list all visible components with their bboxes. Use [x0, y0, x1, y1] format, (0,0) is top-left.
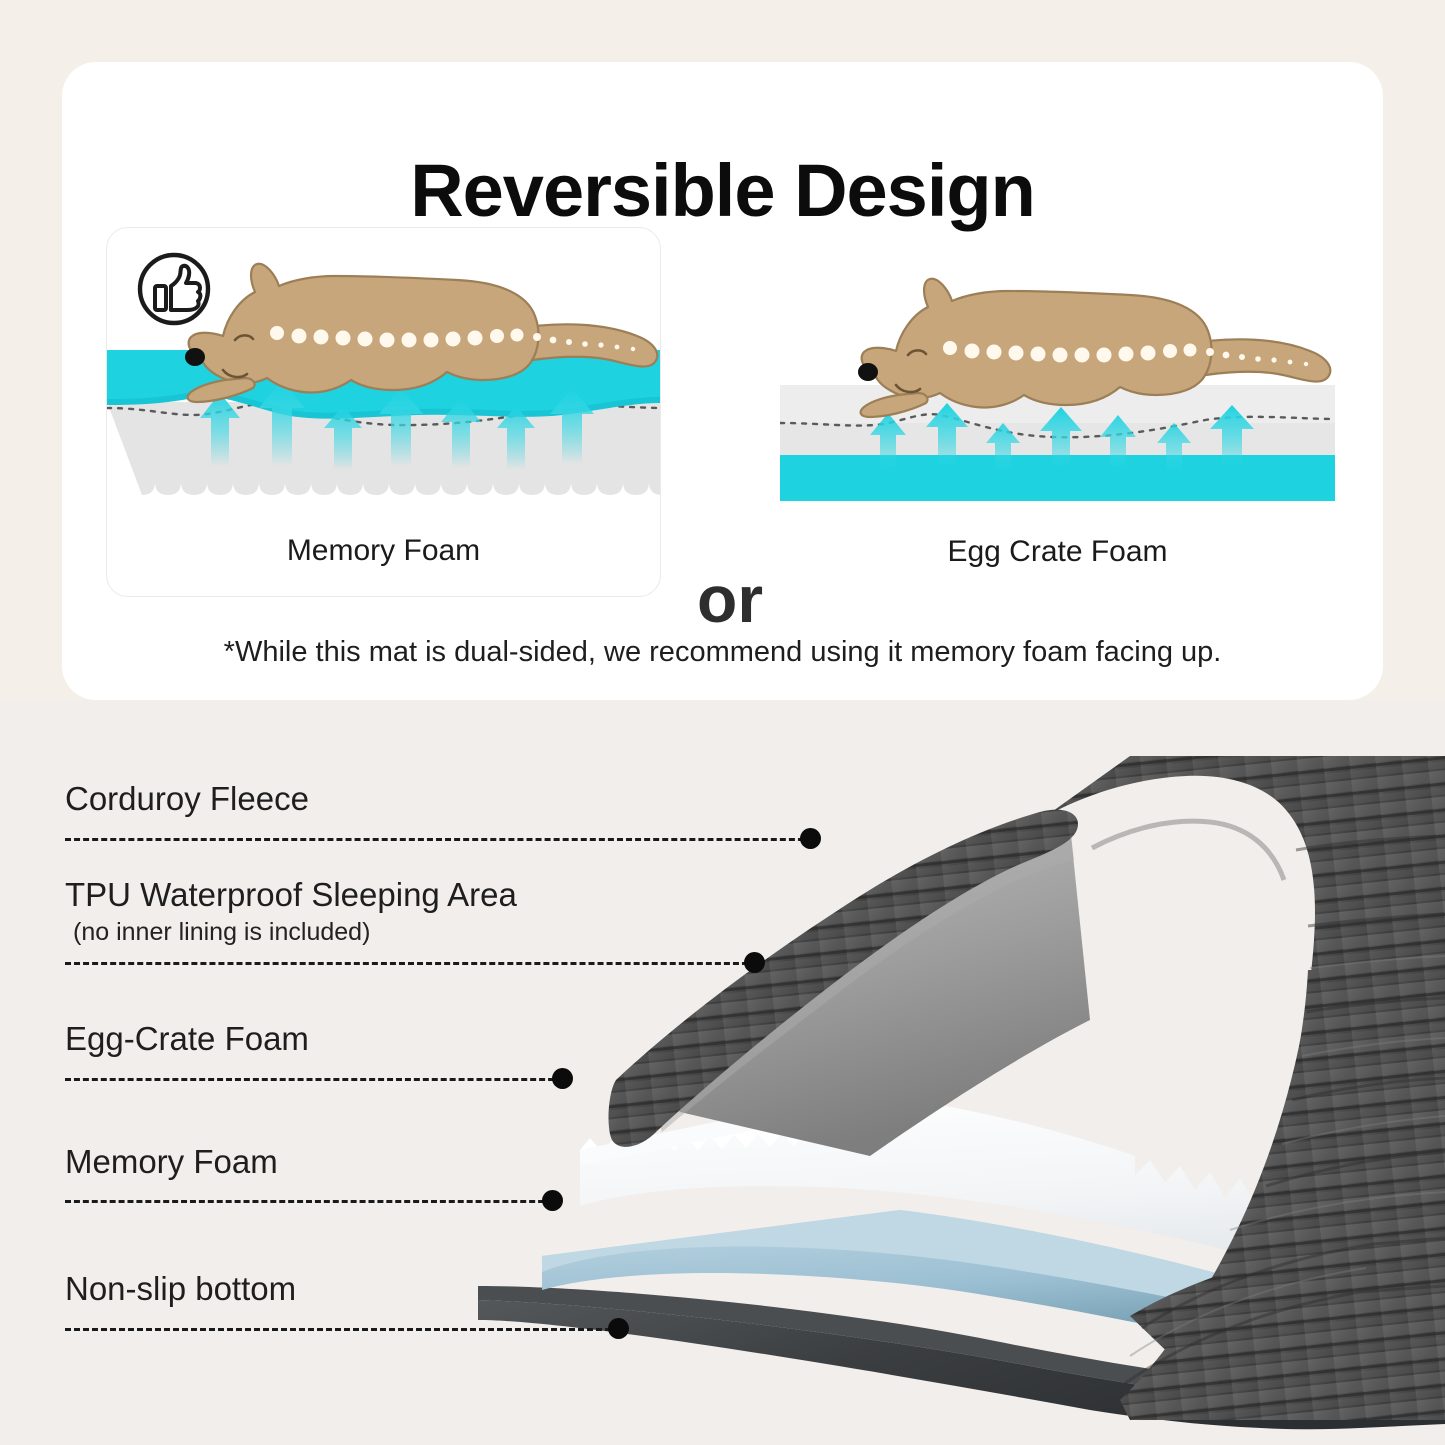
infographic-page: Reversible Design: [0, 0, 1445, 1445]
label-nonslip-bottom: Non-slip bottom: [65, 1270, 296, 1308]
egg-crate-foam-illustration: [780, 227, 1335, 517]
leader-dot-nonslip-bottom: [608, 1318, 629, 1339]
leader-dot-tpu-waterproof: [744, 952, 765, 973]
page-title: Reversible Design: [62, 148, 1383, 233]
label-nonslip-bottom-title: Non-slip bottom: [65, 1270, 296, 1308]
thumbs-up-icon: [135, 250, 213, 333]
label-egg-crate-foam: Egg-Crate Foam: [65, 1020, 309, 1058]
label-tpu-waterproof: TPU Waterproof Sleeping Area (no inner l…: [65, 876, 517, 947]
leader-line-tpu-waterproof: [65, 962, 757, 965]
or-separator-label: or: [682, 561, 778, 637]
reversible-design-card: Reversible Design: [62, 62, 1383, 700]
panel-label-memory-foam: Memory Foam: [107, 534, 660, 568]
leader-line-nonslip-bottom: [65, 1328, 620, 1331]
comparison-panels: Memory Foam: [62, 227, 1383, 607]
label-memory-foam: Memory Foam: [65, 1143, 278, 1181]
panel-label-egg-crate-foam: Egg Crate Foam: [780, 535, 1335, 569]
leader-dot-egg-crate-foam: [552, 1068, 573, 1089]
panel-memory-foam[interactable]: Memory Foam: [106, 227, 661, 597]
label-memory-foam-title: Memory Foam: [65, 1143, 278, 1181]
layer-tpu-waterproof: [642, 826, 1090, 1156]
label-tpu-waterproof-title: TPU Waterproof Sleeping Area: [65, 876, 517, 914]
leader-line-egg-crate-foam: [65, 1078, 563, 1081]
label-corduroy-fleece: Corduroy Fleece: [65, 780, 309, 818]
egg-crate-diagram-svg: [780, 227, 1335, 517]
leader-dot-memory-foam: [542, 1190, 563, 1211]
label-tpu-waterproof-sub: (no inner lining is included): [73, 918, 517, 947]
label-egg-crate-foam-title: Egg-Crate Foam: [65, 1020, 309, 1058]
panel-egg-crate-foam[interactable]: Egg Crate Foam: [780, 227, 1335, 597]
leader-line-memory-foam: [65, 1200, 553, 1203]
leader-line-corduroy-fleece: [65, 838, 813, 841]
label-corduroy-fleece-title: Corduroy Fleece: [65, 780, 309, 818]
footnote-text: *While this mat is dual-sided, we recomm…: [62, 636, 1383, 669]
leader-dot-corduroy-fleece: [800, 828, 821, 849]
